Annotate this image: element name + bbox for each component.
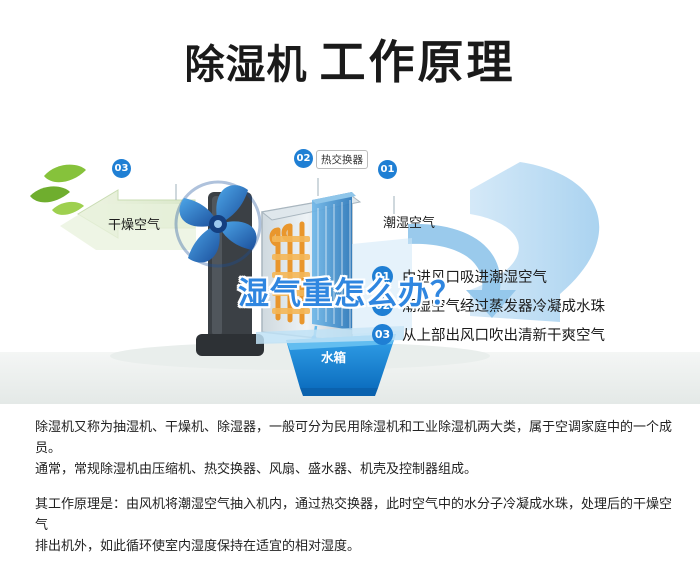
paragraph-2: 其工作原理是：由风机将潮湿空气抽入机内，通过热交换器，此时空气中的水分子冷凝成水… — [35, 494, 675, 557]
page-title: 除湿机工作原理 — [0, 26, 700, 92]
paragraph-2-line-1: 其工作原理是：由风机将潮湿空气抽入机内，通过热交换器，此时空气中的水分子冷凝成水… — [35, 494, 675, 536]
bubble-01: 01 — [378, 160, 397, 179]
paragraph-1-line-1: 除湿机又称为抽湿机、干燥机、除湿器，一般可分为民用除湿机和工业除湿机两大类，属于… — [35, 417, 675, 459]
body-text: 除湿机又称为抽湿机、干燥机、除湿器，一般可分为民用除湿机和工业除湿机两大类，属于… — [35, 417, 675, 566]
step-badge: 03 — [372, 324, 393, 345]
paragraph-1-line-2: 通常，常规除湿机由压缩机、热交换器、风扇、盛水器、机壳及控制器组成。 — [35, 459, 675, 480]
paragraph-2-line-2: 排出机外，如此循环使室内湿度保持在适宜的相对湿度。 — [35, 536, 675, 557]
label-humid-air: 潮湿空气 — [383, 212, 435, 231]
step-text: 从上部出风口吹出清新干爽空气 — [402, 324, 605, 345]
label-water-tank: 水箱 — [321, 347, 346, 366]
label-heat-exchanger: 热交换器 — [316, 150, 368, 169]
dehumidifier-illustration: 01 潮湿空气 02 热交换器 03 干燥空气 水箱 — [0, 104, 700, 404]
bubble-02: 02 — [294, 149, 313, 168]
paragraph-1: 除湿机又称为抽湿机、干燥机、除湿器，一般可分为民用除湿机和工业除湿机两大类，属于… — [35, 417, 675, 480]
bubble-03: 03 — [112, 159, 131, 178]
page-root: 除湿机工作原理 — [0, 0, 700, 566]
overlay-headline: 湿气重怎么办？ — [0, 268, 700, 313]
label-dry-air: 干燥空气 — [108, 214, 160, 233]
illustration-svg — [0, 104, 700, 404]
page-title-part2: 工作原理 — [320, 35, 516, 89]
step-item: 03 从上部出风口吹出清新干爽空气 — [372, 320, 692, 349]
page-title-part1: 除湿机 — [185, 42, 308, 88]
